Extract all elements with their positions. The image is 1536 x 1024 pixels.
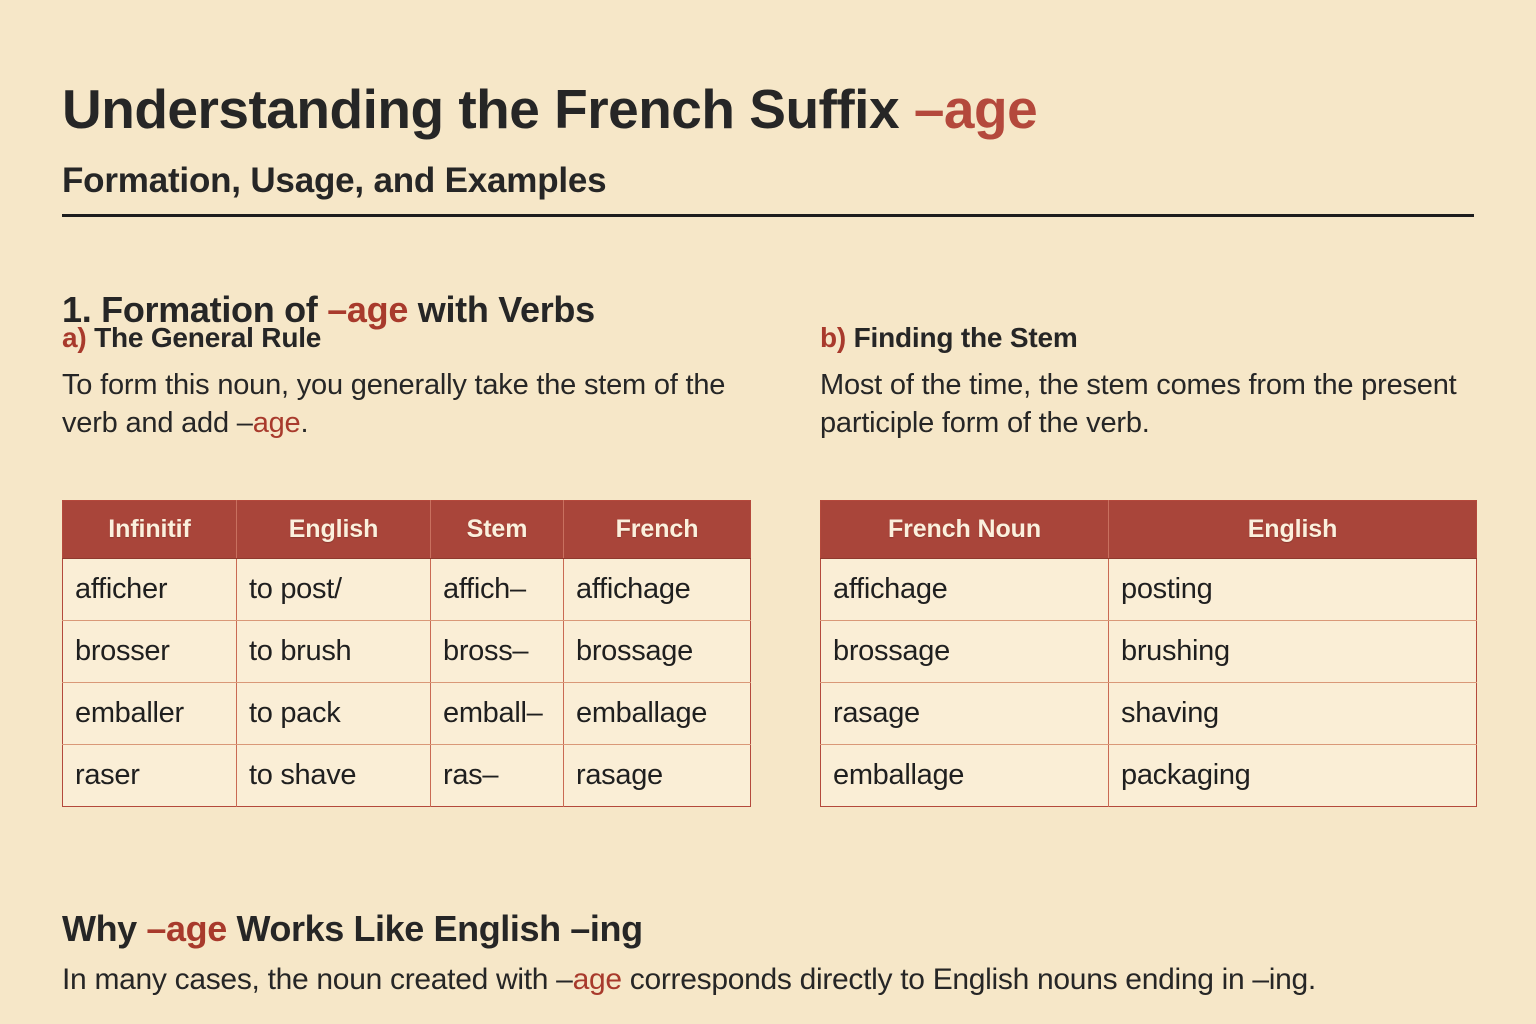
why-section-paragraph-accent: age <box>573 963 622 996</box>
column-general-rule: a) The General Rule To form this noun, y… <box>62 322 762 443</box>
cell-english: packaging <box>1109 745 1477 807</box>
cell-french: affichage <box>564 559 751 621</box>
why-section-heading-accent: –age <box>146 908 226 949</box>
page-title-accent: –age <box>914 78 1037 140</box>
table-row: afficher to post/ affich– affichage <box>63 559 751 621</box>
cell-english: brushing <box>1109 621 1477 683</box>
why-section-paragraph-suffix: corresponds directly to English nouns en… <box>622 963 1316 996</box>
table-row: raser to shave ras– rasage <box>63 745 751 807</box>
cell-infinitif: emballer <box>63 683 237 745</box>
cell-infinitif: brosser <box>63 621 237 683</box>
cell-french: rasage <box>564 745 751 807</box>
paragraph-general-rule-accent: age <box>253 407 301 439</box>
subheading-general-rule-label: a) <box>62 322 87 353</box>
cell-english: shaving <box>1109 683 1477 745</box>
cell-english: to shave <box>237 745 431 807</box>
page-subtitle: Formation, Usage, and Examples <box>62 162 606 201</box>
table-verb-formation-head: Infinitif English Stem French <box>63 501 751 559</box>
why-section-heading-prefix: Why <box>62 908 146 949</box>
why-section-paragraph: In many cases, the noun created with –ag… <box>62 960 1482 999</box>
table-noun-translations-head: French Noun English <box>821 501 1477 559</box>
cell-infinitif: afficher <box>63 559 237 621</box>
paragraph-general-rule-prefix: To form this noun, you generally take th… <box>62 369 725 439</box>
page-title: Understanding the French Suffix –age <box>62 81 1037 139</box>
table-noun-translations-body: affichage posting brossage brushing rasa… <box>821 559 1477 807</box>
page-title-prefix: Understanding the French Suffix <box>62 78 914 140</box>
subheading-finding-stem-text: Finding the Stem <box>846 322 1077 353</box>
why-section-paragraph-prefix: In many cases, the noun created with – <box>62 963 573 996</box>
cell-stem: bross– <box>431 621 564 683</box>
paragraph-general-rule-suffix: . <box>300 407 308 439</box>
cell-english: to pack <box>237 683 431 745</box>
cell-english: to post/ <box>237 559 431 621</box>
paragraph-general-rule: To form this noun, you generally take th… <box>62 366 762 443</box>
column-header-french: French <box>564 501 751 559</box>
cell-french-noun: affichage <box>821 559 1109 621</box>
cell-stem: ras– <box>431 745 564 807</box>
cell-stem: emball– <box>431 683 564 745</box>
cell-french: brossage <box>564 621 751 683</box>
column-header-french-noun: French Noun <box>821 501 1109 559</box>
table-header-row: Infinitif English Stem French <box>63 501 751 559</box>
table-row: emballer to pack emball– emballage <box>63 683 751 745</box>
cell-french-noun: rasage <box>821 683 1109 745</box>
cell-english: to brush <box>237 621 431 683</box>
cell-french-noun: brossage <box>821 621 1109 683</box>
header-divider <box>62 214 1474 217</box>
subheading-general-rule-text: The General Rule <box>87 322 322 353</box>
cell-english: posting <box>1109 559 1477 621</box>
column-header-english: English <box>1109 501 1477 559</box>
table-verb-formation-body: afficher to post/ affich– affichage bros… <box>63 559 751 807</box>
subheading-finding-stem-label: b) <box>820 322 846 353</box>
cell-french-noun: emballage <box>821 745 1109 807</box>
table-row: affichage posting <box>821 559 1477 621</box>
cell-infinitif: raser <box>63 745 237 807</box>
column-finding-stem: b) Finding the Stem Most of the time, th… <box>820 322 1500 443</box>
cell-french: emballage <box>564 683 751 745</box>
subheading-finding-stem: b) Finding the Stem <box>820 322 1500 354</box>
poster-page: Understanding the French Suffix –age For… <box>0 0 1536 1024</box>
table-row: brossage brushing <box>821 621 1477 683</box>
table-noun-translations: French Noun English affichage posting br… <box>820 500 1477 807</box>
why-section-heading: Why –age Works Like English –ing <box>62 908 643 950</box>
column-header-infinitif: Infinitif <box>63 501 237 559</box>
table-row: brosser to brush bross– brossage <box>63 621 751 683</box>
cell-stem: affich– <box>431 559 564 621</box>
why-section-heading-suffix: Works Like English –ing <box>227 908 643 949</box>
subheading-general-rule: a) The General Rule <box>62 322 762 354</box>
column-header-stem: Stem <box>431 501 564 559</box>
table-header-row: French Noun English <box>821 501 1477 559</box>
paragraph-finding-stem: Most of the time, the stem comes from th… <box>820 366 1500 443</box>
table-row: rasage shaving <box>821 683 1477 745</box>
table-row: emballage packaging <box>821 745 1477 807</box>
column-header-english: English <box>237 501 431 559</box>
table-verb-formation: Infinitif English Stem French afficher t… <box>62 500 751 807</box>
